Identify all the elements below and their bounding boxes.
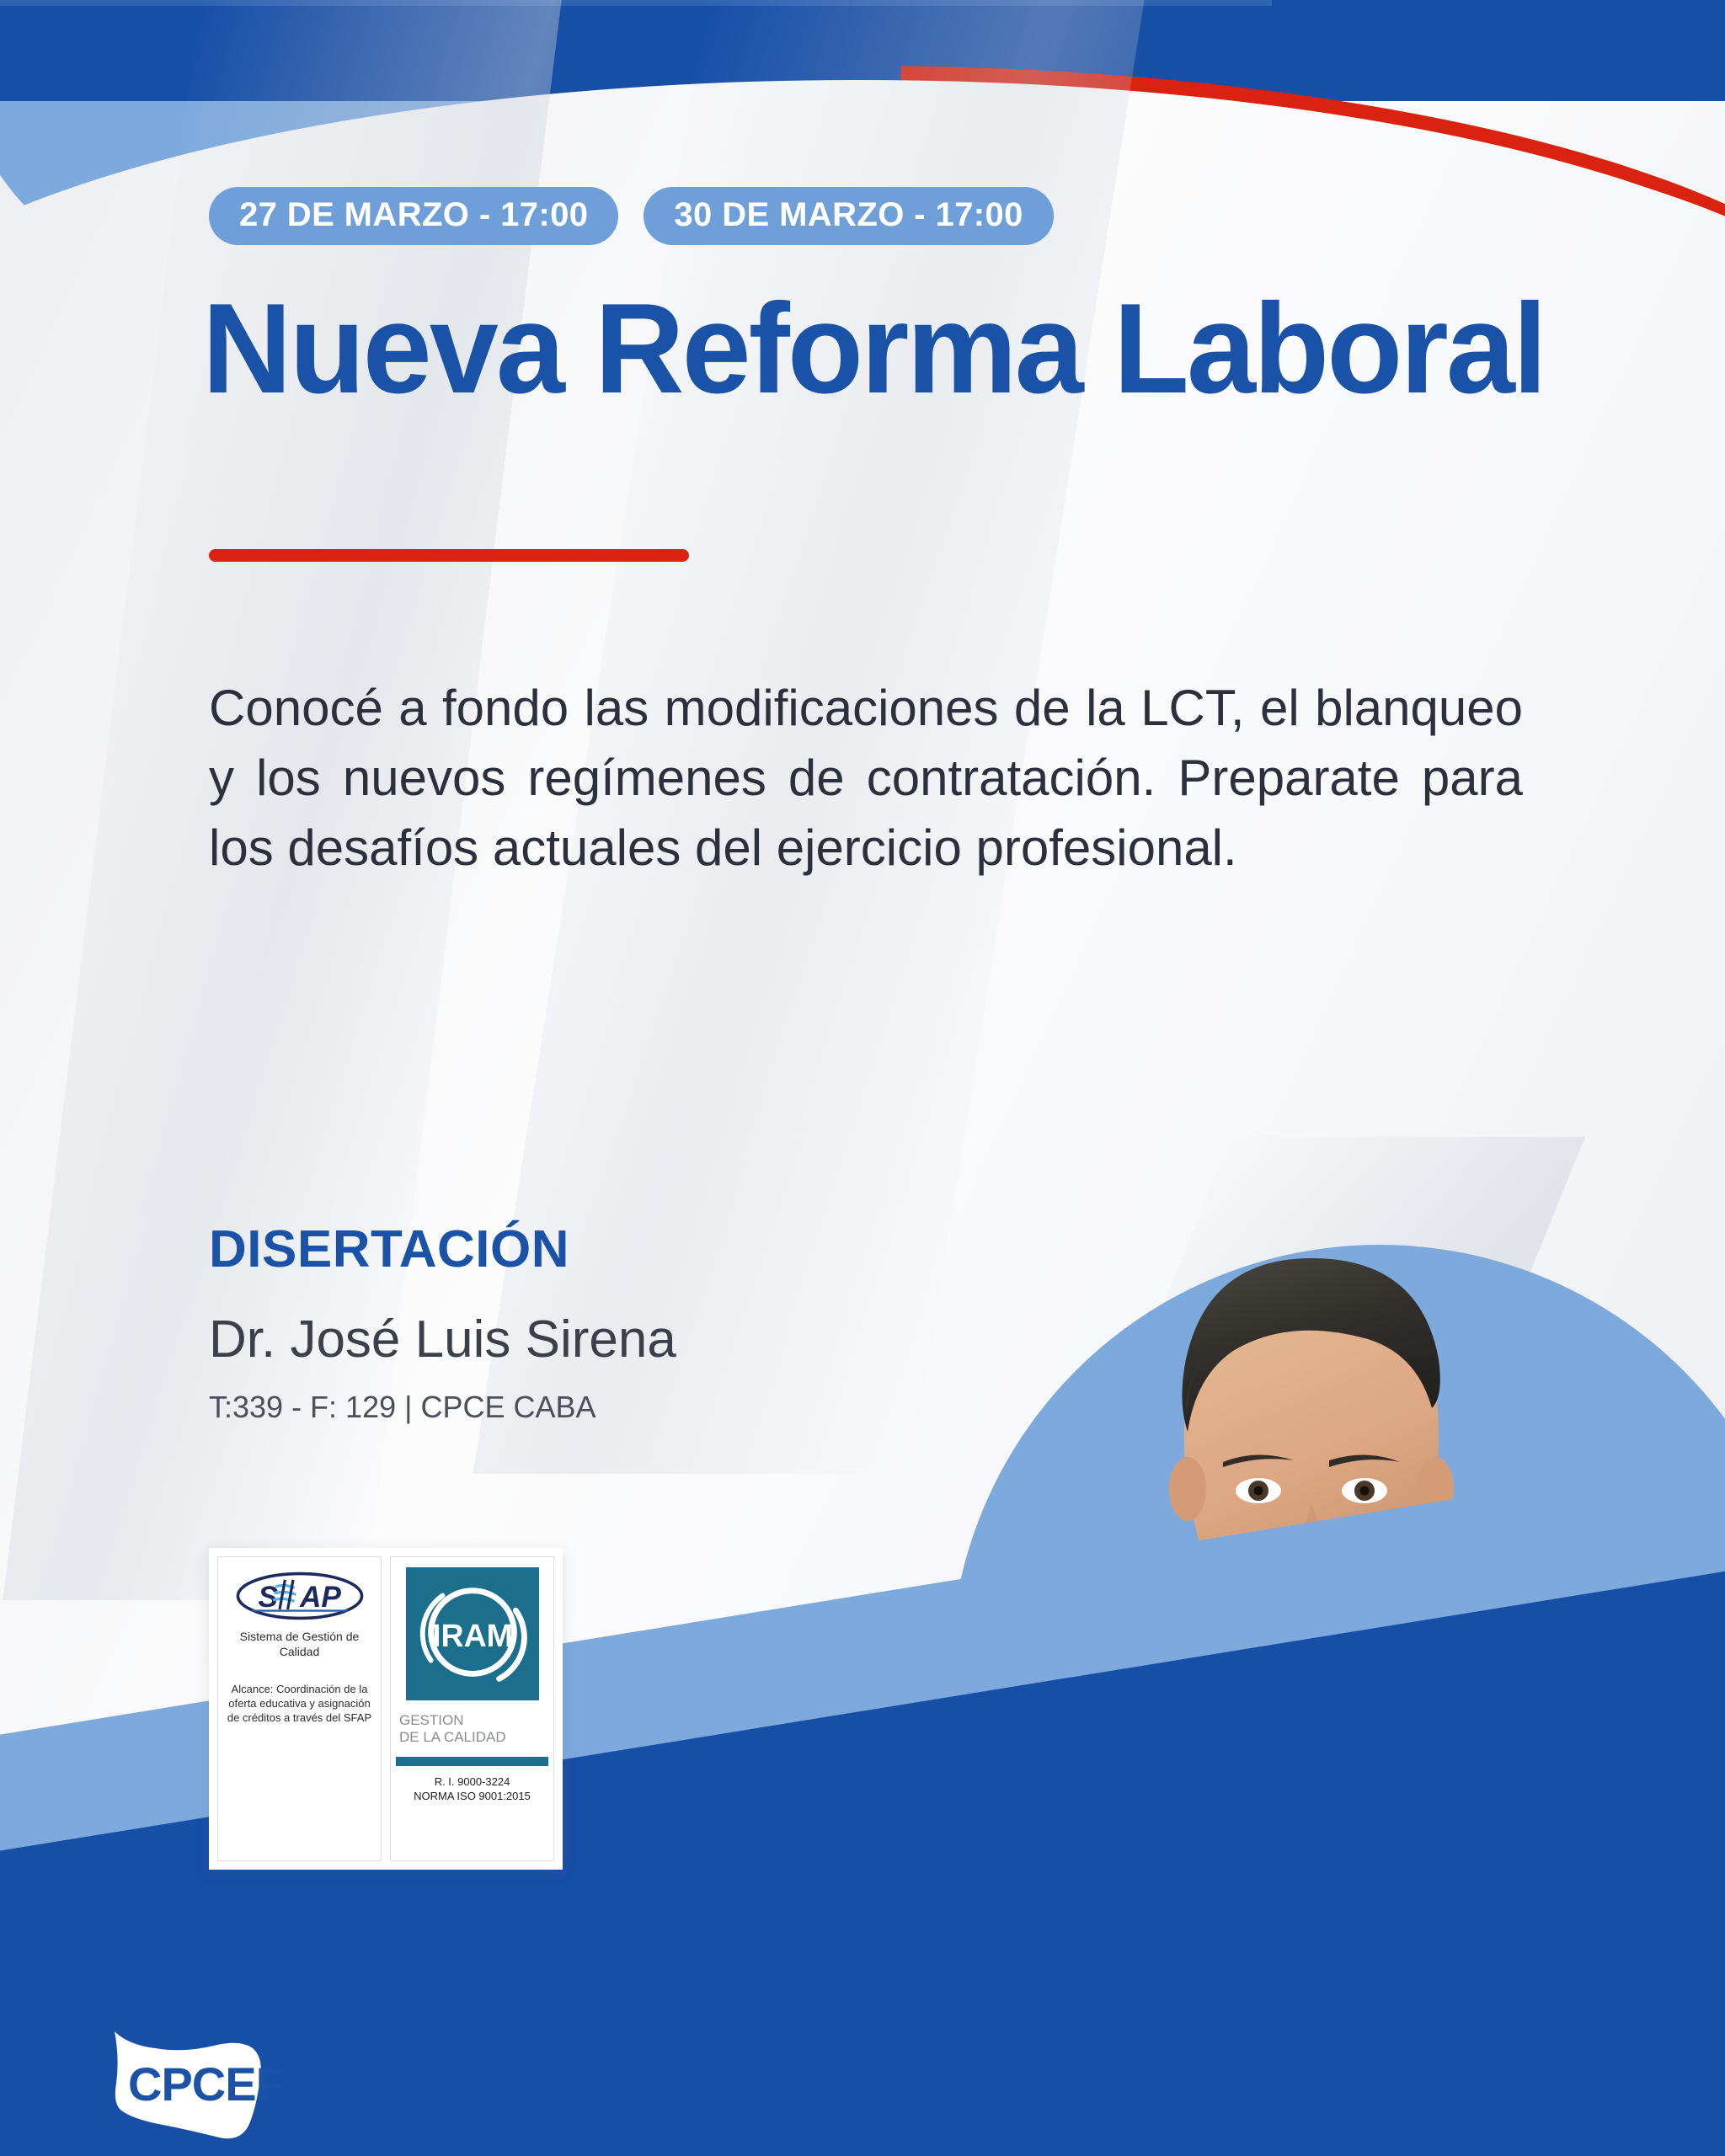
sfap-subtitle: Sistema de Gestión de Calidad — [223, 1630, 376, 1660]
iram-heading-line2: DE LA CALIDAD — [399, 1729, 506, 1746]
iram-heading: GESTION DE LA CALIDAD — [396, 1712, 506, 1747]
cpcef-logo[interactable]: CPCEF — [84, 2020, 320, 2146]
page-title: Nueva Reforma Laboral — [202, 285, 1545, 413]
date-badge-2[interactable]: 30 DE MARZO - 17:00 — [644, 187, 1053, 245]
iram-registry-number: R. I. 9000-3224 — [414, 1774, 531, 1790]
sfap-logo-icon: S AP — [232, 1569, 367, 1623]
red-divider-rule — [209, 549, 689, 562]
event-dates: 27 DE MARZO - 17:00 30 DE MARZO - 17:00 — [209, 187, 1054, 245]
poster-description: Conocé a fondo las modificaciones de la … — [209, 674, 1523, 883]
sfap-certification: S AP Sistema de Gestión de Calidad Alcan… — [217, 1556, 382, 1861]
poster-content: 27 DE MARZO - 17:00 30 DE MARZO - 17:00 … — [0, 0, 1725, 2156]
speaker-name: Dr. José Luis Sirena — [209, 1310, 676, 1369]
iram-divider-bar — [396, 1757, 548, 1766]
speaker-registration: T:339 - F: 129 | CPCE CABA — [209, 1390, 596, 1425]
disertacion-label: DISERTACIÓN — [209, 1219, 569, 1279]
event-poster: 27 DE MARZO - 17:00 30 DE MARZO - 17:00 … — [0, 0, 1725, 2156]
svg-text:CPCEF: CPCEF — [128, 2057, 284, 2111]
iram-heading-line1: GESTION — [399, 1712, 506, 1729]
svg-text:S: S — [258, 1581, 278, 1614]
iram-logo-icon: IRAM — [406, 1567, 539, 1700]
date-badge-1[interactable]: 27 DE MARZO - 17:00 — [209, 187, 618, 245]
svg-text:IRAM: IRAM — [432, 1618, 513, 1653]
certification-card: S AP Sistema de Gestión de Calidad Alcan… — [209, 1548, 563, 1870]
sfap-scope: Alcance: Coordinación de la oferta educa… — [223, 1682, 376, 1725]
svg-text:AP: AP — [299, 1581, 341, 1614]
iram-registry: R. I. 9000-3224 NORMA ISO 9001:2015 — [414, 1774, 531, 1804]
description-text: Conocé a fondo las modificaciones de la … — [209, 674, 1523, 883]
iram-certification: IRAM GESTION DE LA CALIDAD R. I. 9000-32… — [390, 1556, 554, 1861]
iram-norm: NORMA ISO 9001:2015 — [414, 1789, 531, 1804]
